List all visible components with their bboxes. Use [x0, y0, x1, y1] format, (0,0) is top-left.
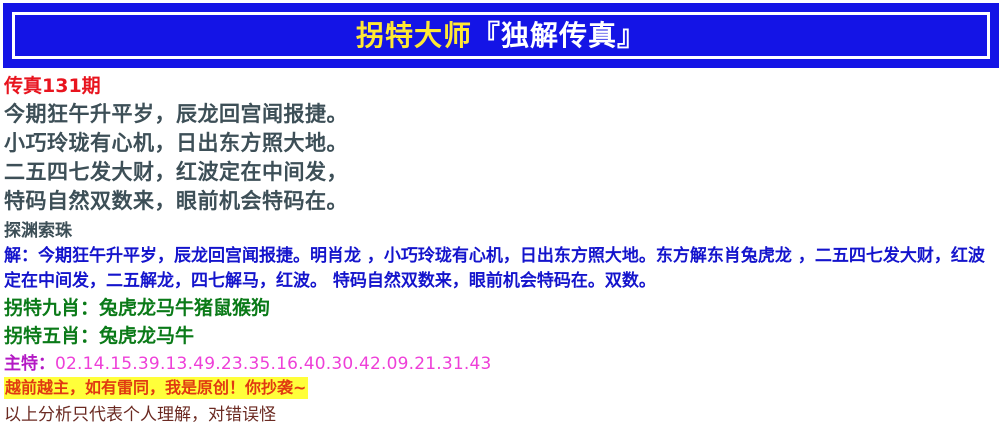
poem-line-3: 二五四七发大财，红波定在中间发，: [4, 158, 999, 187]
section-heading-analysis: 探渊索珠: [4, 218, 999, 244]
poem-line-2: 小巧玲珑有心机，日出东方照大地。: [4, 129, 999, 158]
poem-line-1: 今期狂午升平岁，辰龙回宫闻报捷。: [4, 100, 999, 129]
special-numbers-line: 主特：02.14.15.39.13.49.23.35.16.40.30.42.0…: [4, 352, 999, 376]
issue-number: 传真131期: [4, 74, 999, 98]
content-body: 传真131期 今期狂午升平岁，辰龙回宫闻报捷。 小巧玲珑有心机，日出东方照大地。…: [4, 74, 999, 428]
analysis-paragraph: 解：今期狂午升平岁，辰龙回宫闻报捷。明肖龙 ，小巧玲珑有心机，日出东方照大地。东…: [4, 244, 996, 294]
page-root: 拐特大师『独解传真』 传真131期 今期狂午升平岁，辰龙回宫闻报捷。 小巧玲珑有…: [0, 0, 1003, 447]
header-banner-inner-border: 拐特大师『独解传真』: [12, 12, 990, 59]
copyright-warning: 越前越主，如有雷同，我是原创！你抄袭~: [4, 377, 308, 399]
warning-row: 越前越主，如有雷同，我是原创！你抄袭~: [4, 377, 999, 399]
zodiac-five-line: 拐特五肖：兔虎龙马牛: [4, 322, 999, 350]
page-title: 拐特大师『独解传真』: [356, 22, 646, 50]
special-numbers-values: 02.14.15.39.13.49.23.35.16.40.30.42.09.2…: [55, 354, 492, 374]
disclaimer-text: 以上分析只代表个人理解，对错误怪: [4, 402, 999, 428]
zodiac-nine-line: 拐特九肖：兔虎龙马牛猪鼠猴狗: [4, 294, 999, 322]
header-banner: 拐特大师『独解传真』: [3, 3, 999, 68]
special-numbers-label: 主特：: [4, 354, 55, 374]
page-title-main: 拐特大师: [356, 19, 472, 52]
page-title-bracketed: 『独解传真』: [472, 19, 646, 52]
poem-line-4: 特码自然双数来，眼前机会特码在。: [4, 187, 999, 216]
